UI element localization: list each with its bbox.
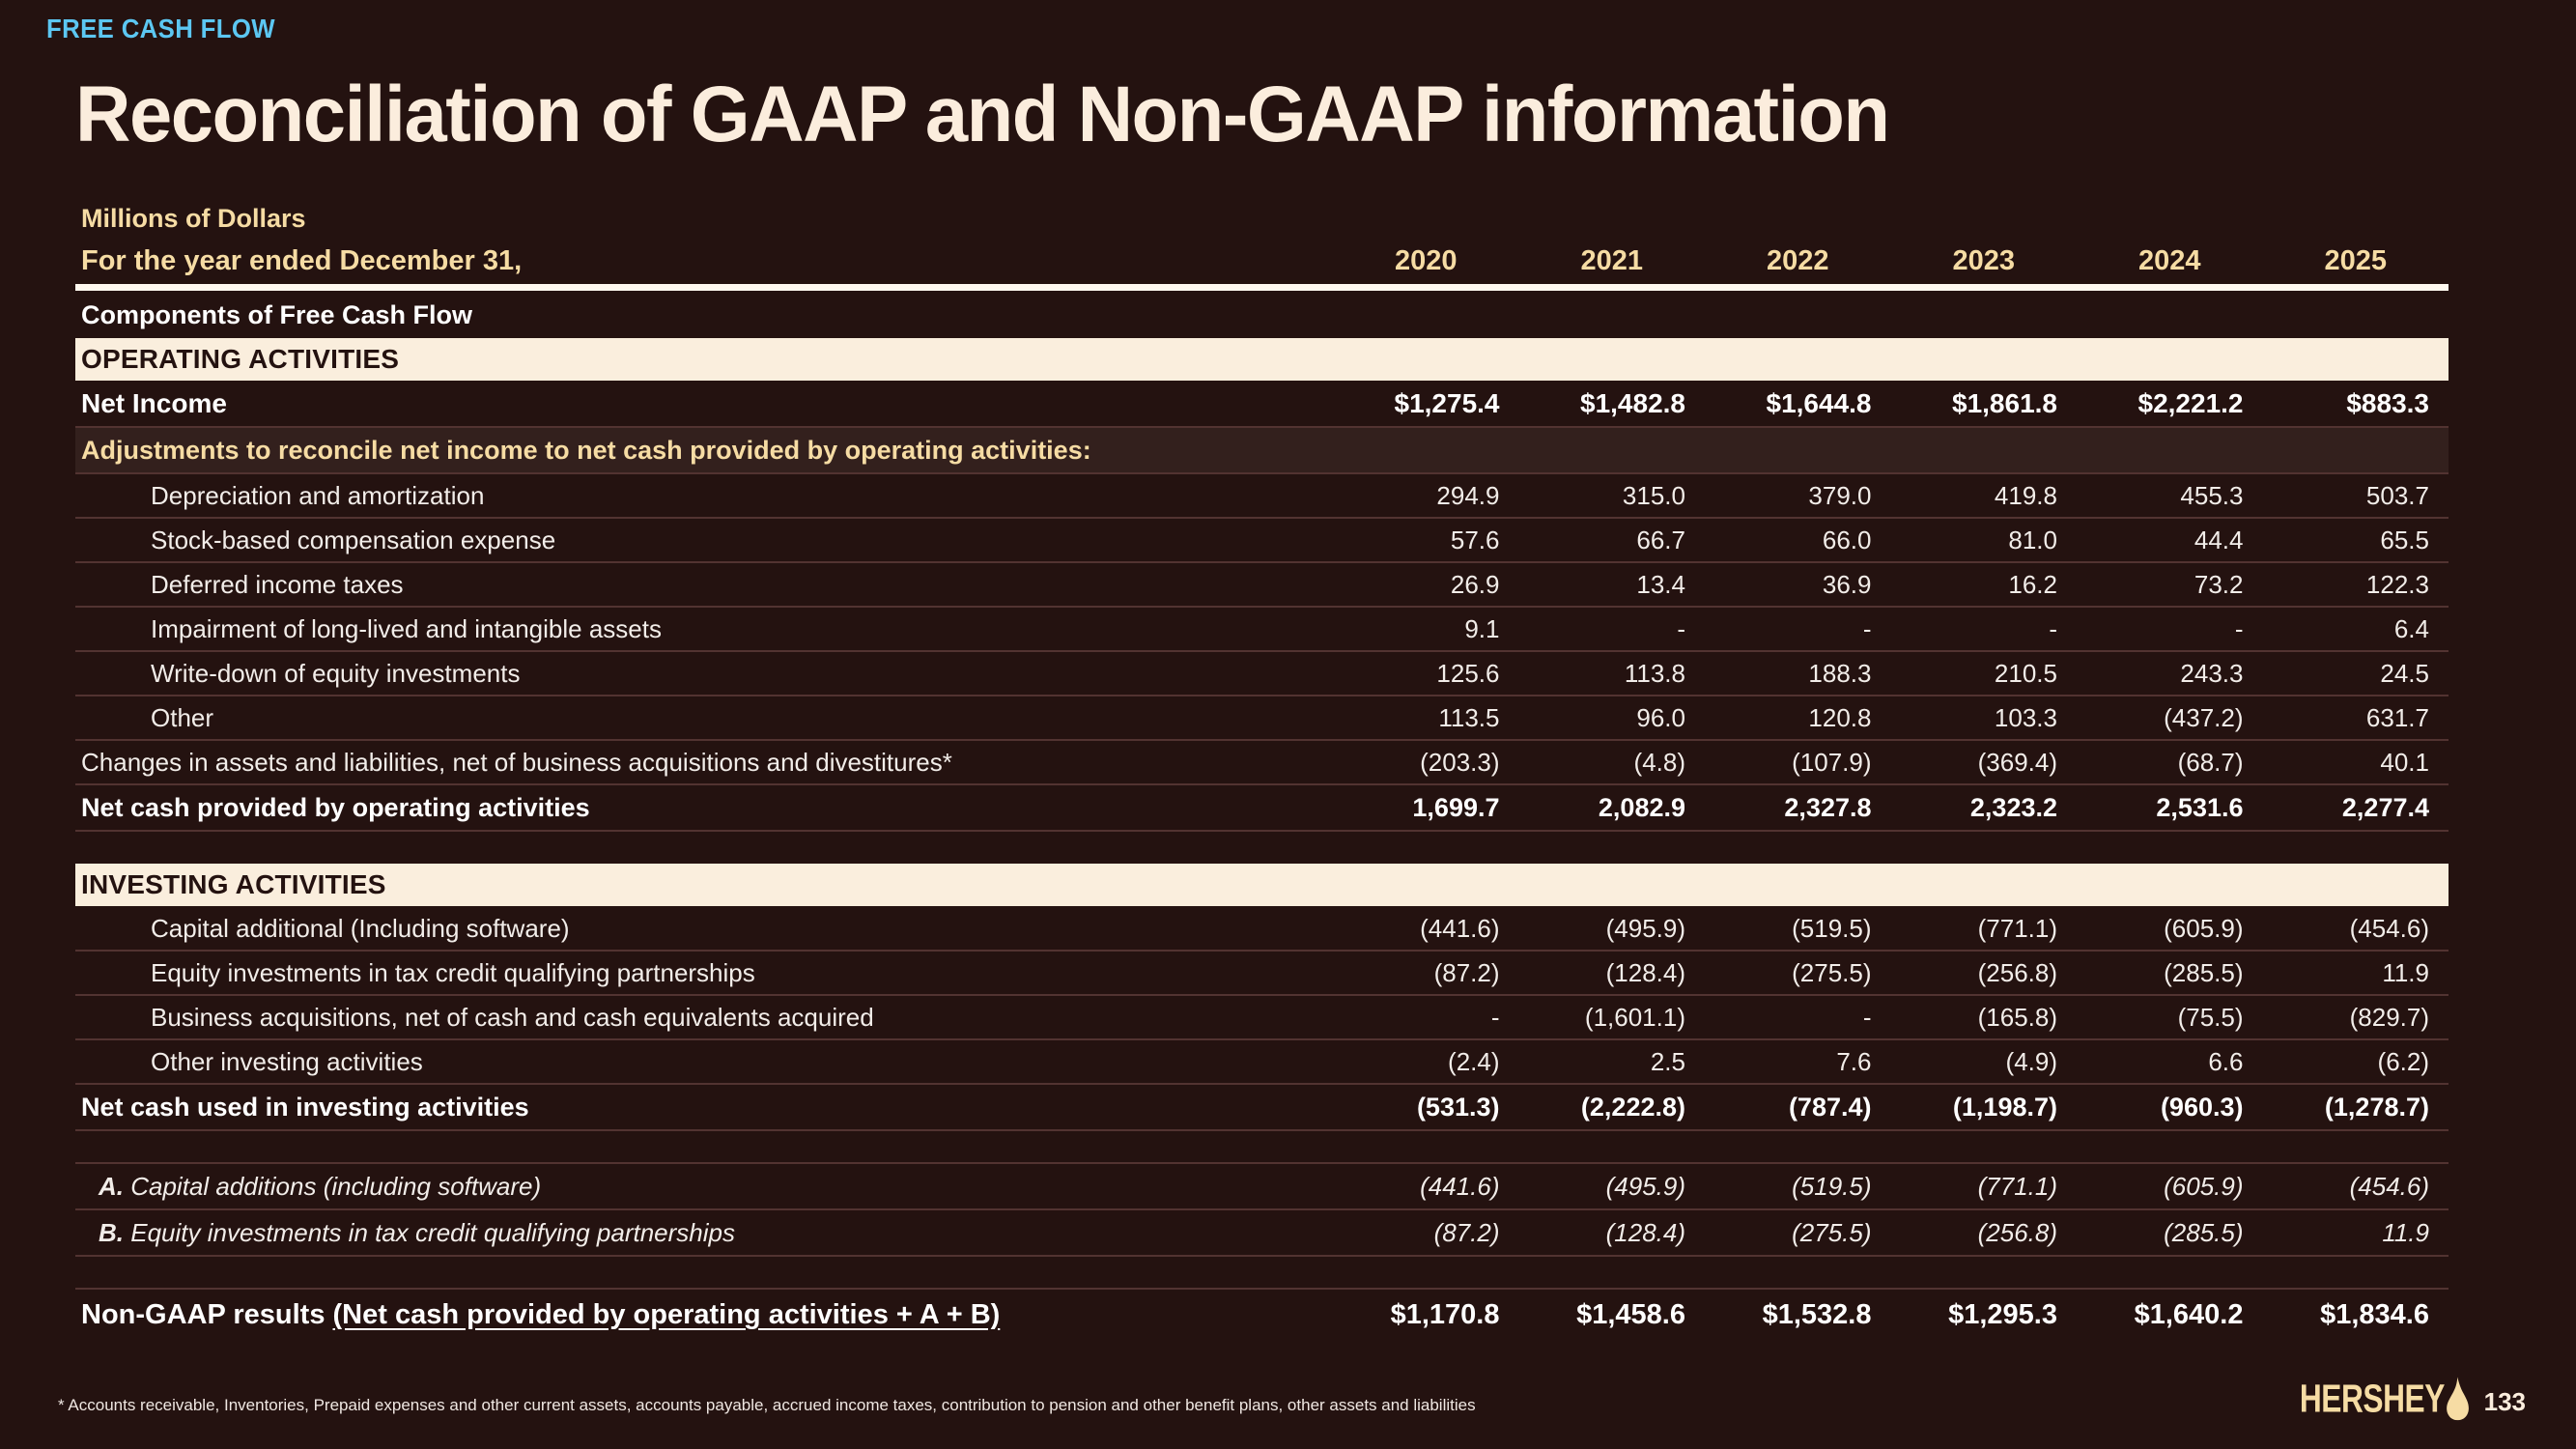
cell-2020: $1,170.8 [1333,1289,1519,1341]
cell-2025: (454.6) [2263,906,2449,951]
cell-2020: 26.9 [1333,562,1519,607]
period-label: For the year ended December 31, [75,239,1333,283]
table-row: Other 113.5 96.0 120.8 103.3 (437.2) 631… [75,696,2449,740]
cell-2023: 81.0 [1891,518,2078,562]
cell-2022: (787.4) [1705,1084,1891,1130]
cell-2024: (605.9) [2077,1163,2263,1209]
cell-2020: - [1333,995,1519,1039]
reference-row-b: B. Equity investments in tax credit qual… [75,1209,2449,1256]
net-cash-investing-row: Net cash used in investing activities (5… [75,1084,2449,1130]
year-header-2024: 2024 [2077,239,2263,283]
cell-2022: 188.3 [1705,651,1891,696]
cell-2021: (4.8) [1519,740,1706,784]
table-row: Other investing activities (2.4) 2.5 7.6… [75,1039,2449,1084]
table-row: Equity investments in tax credit qualify… [75,951,2449,995]
cell-2023: 16.2 [1891,562,2078,607]
cell-2021: (128.4) [1519,1209,1706,1256]
cell-2020: (203.3) [1333,740,1519,784]
table-row: Stock-based compensation expense 57.6 66… [75,518,2449,562]
cell-2024: (437.2) [2077,696,2263,740]
header-rule [75,283,2449,292]
cell-2023: 103.3 [1891,696,2078,740]
operating-banner-label: OPERATING ACTIVITIES [75,338,1333,381]
cell-2023: (165.8) [1891,995,2078,1039]
year-header-2021: 2021 [1519,239,1706,283]
year-header-2023: 2023 [1891,239,2078,283]
cell-2025: (829.7) [2263,995,2449,1039]
section-title: Components of Free Cash Flow [75,292,1333,338]
cell-2025: 6.4 [2263,607,2449,651]
cell-2020: (2.4) [1333,1039,1519,1084]
cell-2023: 419.8 [1891,473,2078,518]
net-income-2023: $1,861.8 [1891,381,2078,427]
cell-2021: 66.7 [1519,518,1706,562]
net-income-row: Net Income $1,275.4 $1,482.8 $1,644.8 $1… [75,381,2449,427]
cell-2021: 315.0 [1519,473,1706,518]
cell-2025: $1,834.6 [2263,1289,2449,1341]
financial-table-container: Millions of Dollars For the year ended D… [75,198,2449,1341]
cell-2024: (285.5) [2077,951,2263,995]
year-header-2020: 2020 [1333,239,1519,283]
year-header-2025: 2025 [2263,239,2449,283]
cell-2023: (771.1) [1891,906,2078,951]
net-income-label: Net Income [75,381,1333,427]
cell-2023: (4.9) [1891,1039,2078,1084]
cell-2022: (275.5) [1705,951,1891,995]
cell-2024: $1,640.2 [2077,1289,2263,1341]
net-income-2020: $1,275.4 [1333,381,1519,427]
row-label: Write-down of equity investments [75,651,1333,696]
cell-2021: 2.5 [1519,1039,1706,1084]
cell-2024: - [2077,607,2263,651]
row-label: Deferred income taxes [75,562,1333,607]
cell-2021: 13.4 [1519,562,1706,607]
cell-2022: (107.9) [1705,740,1891,784]
cell-2022: 120.8 [1705,696,1891,740]
cell-2025: (6.2) [2263,1039,2449,1084]
cell-2023: (771.1) [1891,1163,2078,1209]
section-gap [75,831,2449,864]
cell-2020: (441.6) [1333,906,1519,951]
cell-2020: (441.6) [1333,1163,1519,1209]
cell-2020: 9.1 [1333,607,1519,651]
changes-in-assets-row: Changes in assets and liabilities, net o… [75,740,2449,784]
cell-2021: (495.9) [1519,1163,1706,1209]
table-row: Deferred income taxes 26.9 13.4 36.9 16.… [75,562,2449,607]
adjustments-header-row: Adjustments to reconcile net income to n… [75,427,2449,473]
cell-2020: 1,699.7 [1333,784,1519,831]
cell-2023: 2,323.2 [1891,784,2078,831]
cell-2022: - [1705,607,1891,651]
cell-2021: 96.0 [1519,696,1706,740]
row-label: Stock-based compensation expense [75,518,1333,562]
cell-2025: 2,277.4 [2263,784,2449,831]
row-label: Changes in assets and liabilities, net o… [75,740,1333,784]
cell-2023: 210.5 [1891,651,2078,696]
cell-2021: $1,458.6 [1519,1289,1706,1341]
cell-2023: - [1891,607,2078,651]
column-header-row: For the year ended December 31, 2020 202… [75,239,2449,283]
row-label: Depreciation and amortization [75,473,1333,518]
investing-banner-label: INVESTING ACTIVITIES [75,864,1333,906]
cell-2025: (1,278.7) [2263,1084,2449,1130]
eyebrow-label: FREE CASH FLOW [46,15,275,43]
cell-2021: 2,082.9 [1519,784,1706,831]
cell-2023: (256.8) [1891,951,2078,995]
cell-2025: 24.5 [2263,651,2449,696]
cell-2022: (519.5) [1705,906,1891,951]
section-title-row: Components of Free Cash Flow [75,292,2449,338]
net-income-2022: $1,644.8 [1705,381,1891,427]
non-gaap-results-row: Non-GAAP results (Net cash provided by o… [75,1289,2449,1341]
cell-2021: (495.9) [1519,906,1706,951]
footnote-text: * Accounts receivable, Inventories, Prep… [58,1396,1476,1415]
hershey-kiss-icon [2447,1377,2469,1420]
investing-activities-banner: INVESTING ACTIVITIES [75,864,2449,906]
cell-2020: 125.6 [1333,651,1519,696]
row-label: Capital additions (including software) [130,1172,541,1201]
ref-letter: A. [99,1172,124,1201]
ref-letter: B. [99,1218,124,1247]
cell-2024: (960.3) [2077,1084,2263,1130]
page-number: 133 [2484,1389,2526,1414]
cell-2024: (605.9) [2077,906,2263,951]
hershey-logo: HERSHEY [2300,1377,2469,1418]
cell-2024: (75.5) [2077,995,2263,1039]
cell-2022: 2,327.8 [1705,784,1891,831]
cell-2025: 503.7 [2263,473,2449,518]
cell-2021: (2,222.8) [1519,1084,1706,1130]
cell-2025: 40.1 [2263,740,2449,784]
cell-2022: $1,532.8 [1705,1289,1891,1341]
cell-2022: 36.9 [1705,562,1891,607]
table-row: Write-down of equity investments 125.6 1… [75,651,2449,696]
year-header-2022: 2022 [1705,239,1891,283]
reference-row-a: A. Capital additions (including software… [75,1163,2449,1209]
unit-label-row: Millions of Dollars [75,198,2449,239]
cell-2022: (519.5) [1705,1163,1891,1209]
unit-label: Millions of Dollars [75,198,1333,239]
result-label-plain: Non-GAAP results [81,1299,333,1330]
footer-branding: HERSHEY 133 [2277,1381,2526,1418]
cell-2020: (531.3) [1333,1084,1519,1130]
net-income-2025: $883.3 [2263,381,2449,427]
cell-2022: 66.0 [1705,518,1891,562]
row-label: Capital additional (Including software) [75,906,1333,951]
row-label: Other investing activities [75,1039,1333,1084]
cell-2024: 73.2 [2077,562,2263,607]
row-label: Net cash provided by operating activitie… [75,784,1333,831]
cell-2020: 113.5 [1333,696,1519,740]
net-cash-operating-row: Net cash provided by operating activitie… [75,784,2449,831]
cell-2021: - [1519,607,1706,651]
cell-2023: (256.8) [1891,1209,2078,1256]
cell-2020: (87.2) [1333,951,1519,995]
table-row: Depreciation and amortization 294.9 315.… [75,473,2449,518]
cell-2020: 294.9 [1333,473,1519,518]
table-row: Capital additional (Including software) … [75,906,2449,951]
row-label: Equity investments in tax credit qualify… [130,1218,735,1247]
cell-2025: (454.6) [2263,1163,2449,1209]
cell-2022: 379.0 [1705,473,1891,518]
cell-2025: 631.7 [2263,696,2449,740]
cell-2025: 11.9 [2263,1209,2449,1256]
reconciliation-table: Millions of Dollars For the year ended D… [75,198,2449,1341]
cell-2024: 2,531.6 [2077,784,2263,831]
brand-wordmark: HERSHEY [2300,1379,2445,1418]
cell-2024: (285.5) [2077,1209,2263,1256]
cell-2022: 7.6 [1705,1039,1891,1084]
cell-2020: 57.6 [1333,518,1519,562]
section-gap [75,1130,2449,1163]
table-row: Business acquisitions, net of cash and c… [75,995,2449,1039]
table-row: Impairment of long-lived and intangible … [75,607,2449,651]
cell-2021: 113.8 [1519,651,1706,696]
cell-2021: (128.4) [1519,951,1706,995]
cell-2024: (68.7) [2077,740,2263,784]
adjustments-label: Adjustments to reconcile net income to n… [75,427,1333,473]
cell-2024: 243.3 [2077,651,2263,696]
cell-2022: - [1705,995,1891,1039]
cell-2025: 122.3 [2263,562,2449,607]
net-income-2021: $1,482.8 [1519,381,1706,427]
net-income-2024: $2,221.2 [2077,381,2263,427]
row-label: Net cash used in investing activities [75,1084,1333,1130]
row-label: Other [75,696,1333,740]
cell-2023: $1,295.3 [1891,1289,2078,1341]
cell-2020: (87.2) [1333,1209,1519,1256]
cell-2023: (1,198.7) [1891,1084,2078,1130]
cell-2025: 65.5 [2263,518,2449,562]
cell-2024: 6.6 [2077,1039,2263,1084]
cell-2025: 11.9 [2263,951,2449,995]
row-label: Business acquisitions, net of cash and c… [75,995,1333,1039]
result-label-formula: (Net cash provided by operating activiti… [333,1299,1001,1330]
cell-2024: 44.4 [2077,518,2263,562]
row-label: Equity investments in tax credit qualify… [75,951,1333,995]
cell-2021: (1,601.1) [1519,995,1706,1039]
page-title: Reconciliation of GAAP and Non-GAAP info… [75,75,1888,155]
cell-2022: (275.5) [1705,1209,1891,1256]
section-gap [75,1256,2449,1289]
cell-2024: 455.3 [2077,473,2263,518]
operating-activities-banner: OPERATING ACTIVITIES [75,338,2449,381]
row-label: Impairment of long-lived and intangible … [75,607,1333,651]
cell-2023: (369.4) [1891,740,2078,784]
